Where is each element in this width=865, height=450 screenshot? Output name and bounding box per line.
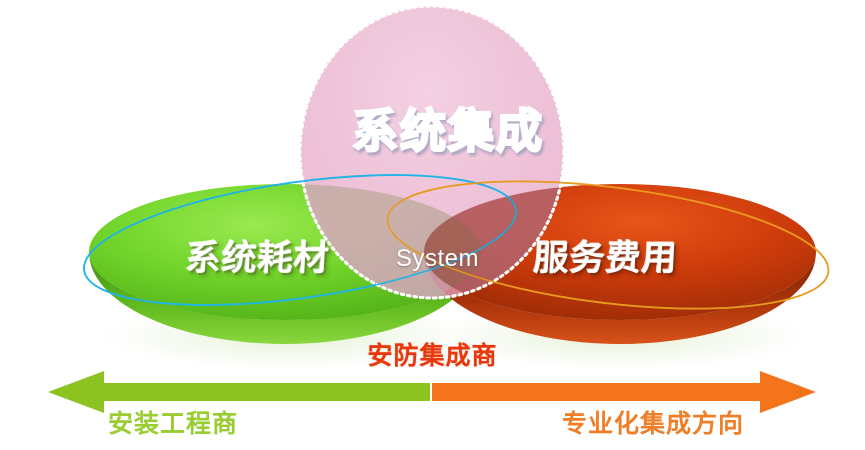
arrow-left-green — [48, 371, 430, 413]
axis-caption-left: 安装工程商 — [108, 404, 238, 440]
axis-caption-right: 专业化集成方向 — [562, 404, 744, 440]
direction-axis: 安防集成商 安装工程商 专业化集成方向 — [0, 330, 865, 450]
diagram-canvas: 系统集成 系统耗材 服务费用 System 安防集成商 安装工程商 专业化集成方… — [0, 0, 865, 450]
